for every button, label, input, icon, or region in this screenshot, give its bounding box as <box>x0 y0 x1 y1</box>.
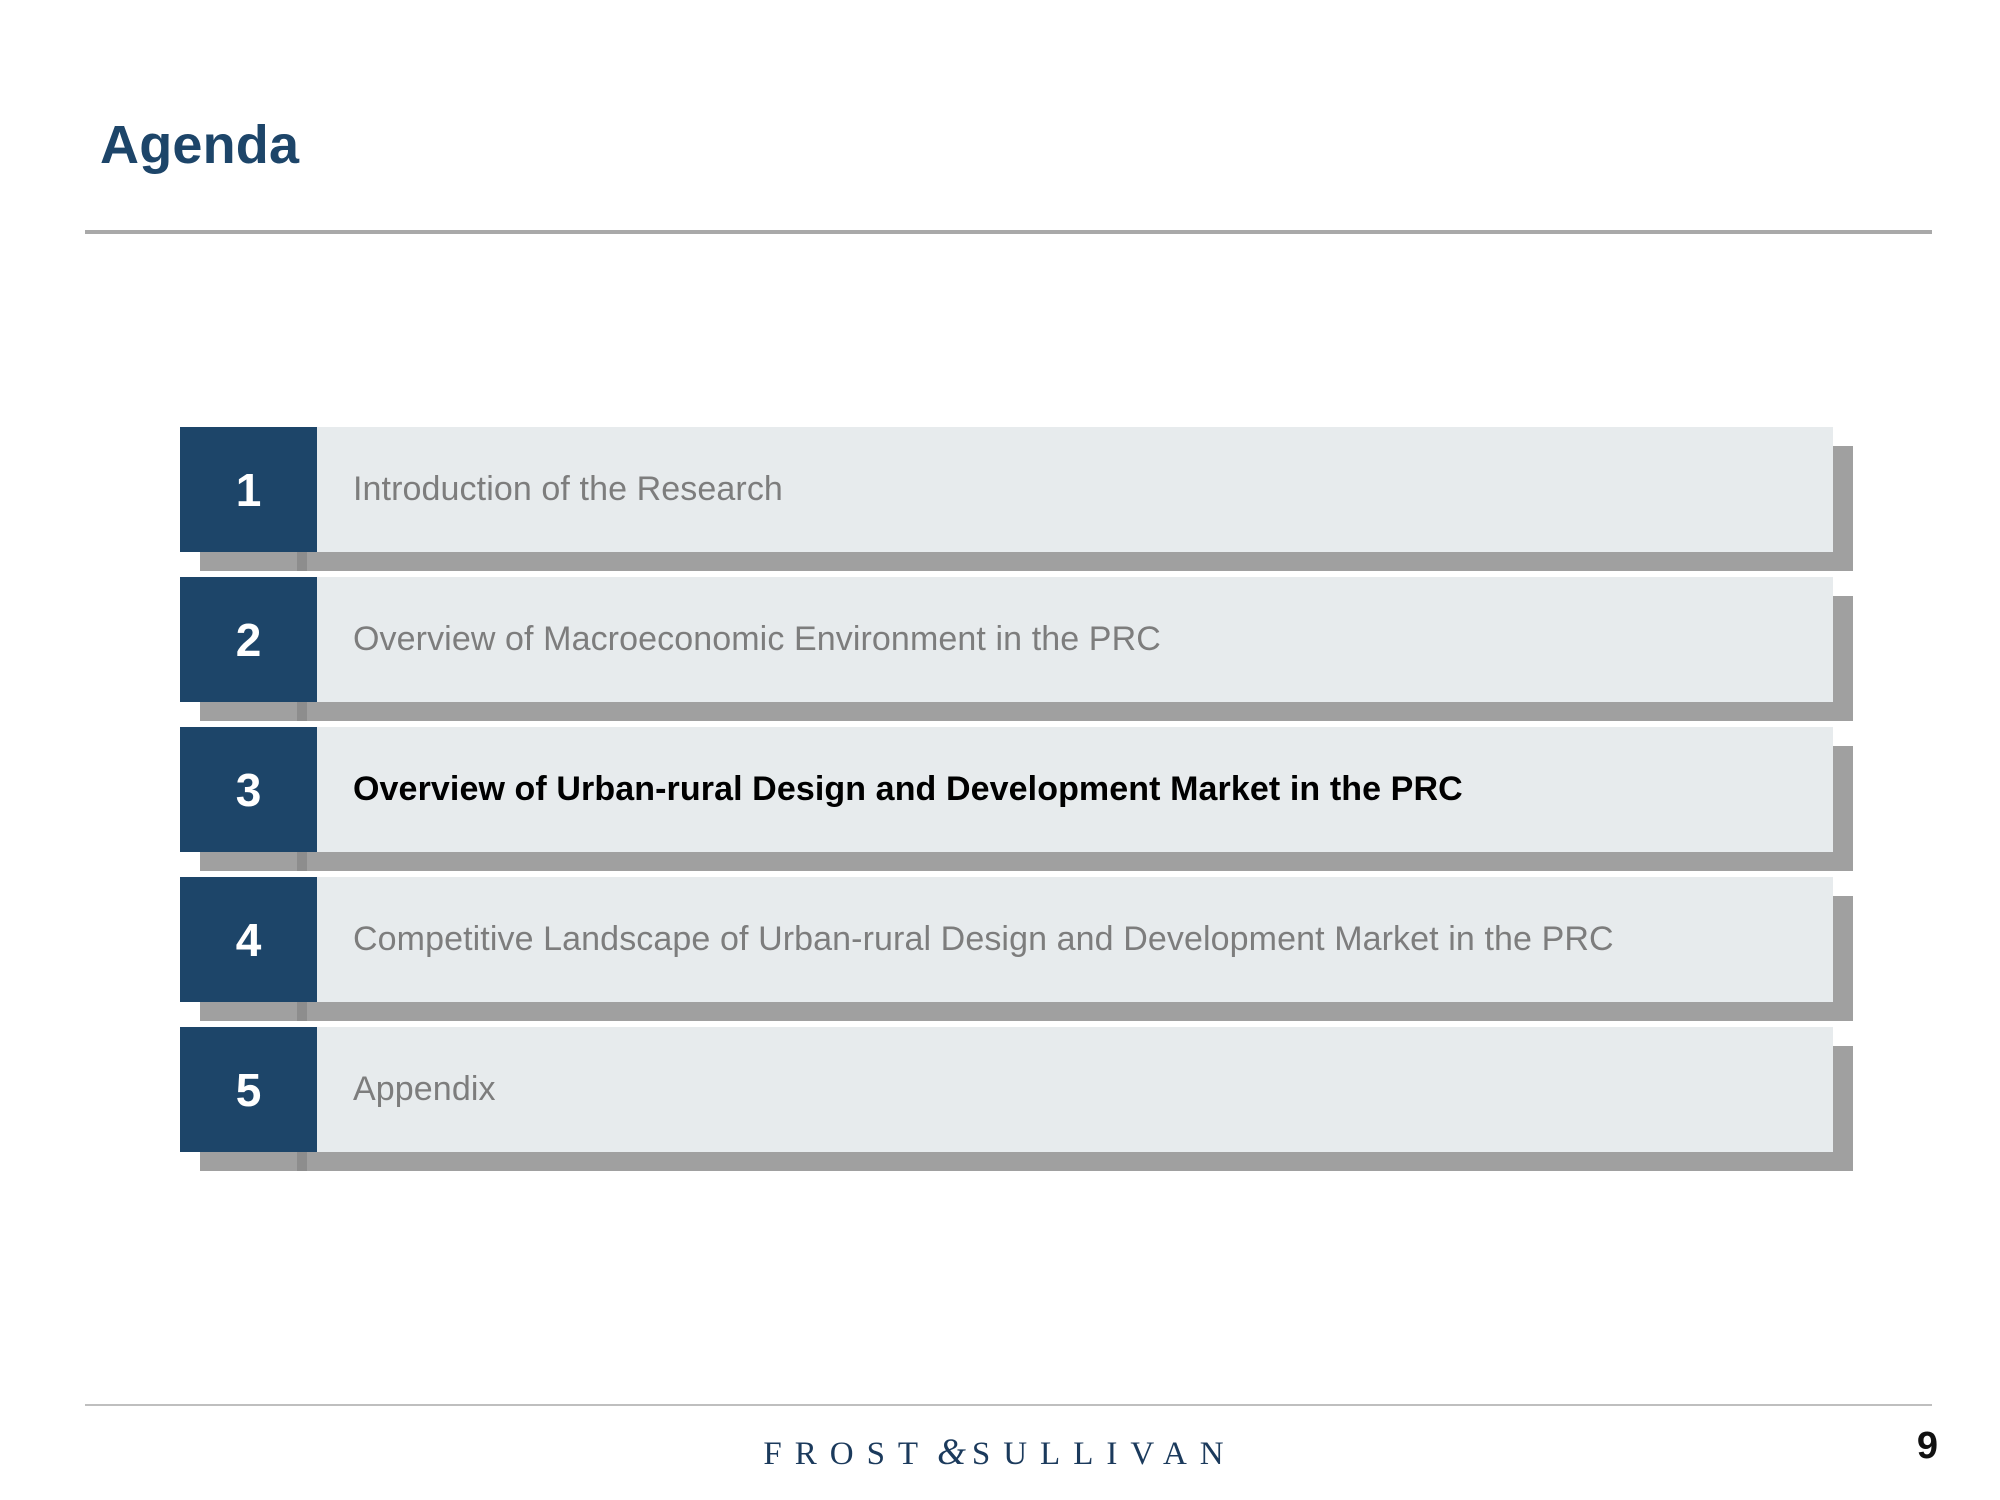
agenda-row-panel[interactable]: Overview of Macroeconomic Environment in… <box>317 577 1833 702</box>
agenda-row[interactable]: 3Overview of Urban-rural Design and Deve… <box>180 727 1852 852</box>
agenda-row-body[interactable]: 4Competitive Landscape of Urban-rural De… <box>180 877 1833 1002</box>
logo-ampersand-icon: & <box>931 1432 972 1473</box>
frost-sullivan-logo: FROST&SULLIVAN <box>0 1434 2000 1471</box>
agenda-row-body[interactable]: 5Appendix <box>180 1027 1833 1152</box>
agenda-row-number: 4 <box>180 877 317 1002</box>
agenda-list: 1Introduction of the Research2Overview o… <box>180 427 1852 1152</box>
agenda-row-label: Introduction of the Research <box>353 470 783 509</box>
logo-word-sullivan: SULLIVAN <box>972 1436 1237 1472</box>
agenda-row-number: 1 <box>180 427 317 552</box>
agenda-row-panel[interactable]: Appendix <box>317 1027 1833 1152</box>
logo-word-frost: FROST <box>763 1436 931 1472</box>
title-divider <box>85 230 1932 234</box>
agenda-row[interactable]: 5Appendix <box>180 1027 1852 1152</box>
footer-divider <box>85 1404 1932 1406</box>
agenda-row-number: 3 <box>180 727 317 852</box>
agenda-row[interactable]: 2Overview of Macroeconomic Environment i… <box>180 577 1852 702</box>
agenda-row-body[interactable]: 2Overview of Macroeconomic Environment i… <box>180 577 1833 702</box>
page-title: Agenda <box>100 118 299 172</box>
agenda-row-label: Overview of Macroeconomic Environment in… <box>353 620 1161 659</box>
agenda-row[interactable]: 4Competitive Landscape of Urban-rural De… <box>180 877 1852 1002</box>
agenda-row-body[interactable]: 1Introduction of the Research <box>180 427 1833 552</box>
agenda-row-label: Overview of Urban-rural Design and Devel… <box>353 770 1463 809</box>
agenda-row-panel[interactable]: Competitive Landscape of Urban-rural Des… <box>317 877 1833 1002</box>
agenda-row-body[interactable]: 3Overview of Urban-rural Design and Deve… <box>180 727 1833 852</box>
agenda-row-label: Appendix <box>353 1070 496 1109</box>
agenda-row-label: Competitive Landscape of Urban-rural Des… <box>353 920 1614 959</box>
agenda-row-number: 5 <box>180 1027 317 1152</box>
agenda-row[interactable]: 1Introduction of the Research <box>180 427 1852 552</box>
page-number: 9 <box>1917 1427 1938 1465</box>
agenda-row-panel[interactable]: Introduction of the Research <box>317 427 1833 552</box>
agenda-row-panel[interactable]: Overview of Urban-rural Design and Devel… <box>317 727 1833 852</box>
agenda-row-number: 2 <box>180 577 317 702</box>
slide-canvas: Agenda 1Introduction of the Research2Ove… <box>0 0 2000 1500</box>
